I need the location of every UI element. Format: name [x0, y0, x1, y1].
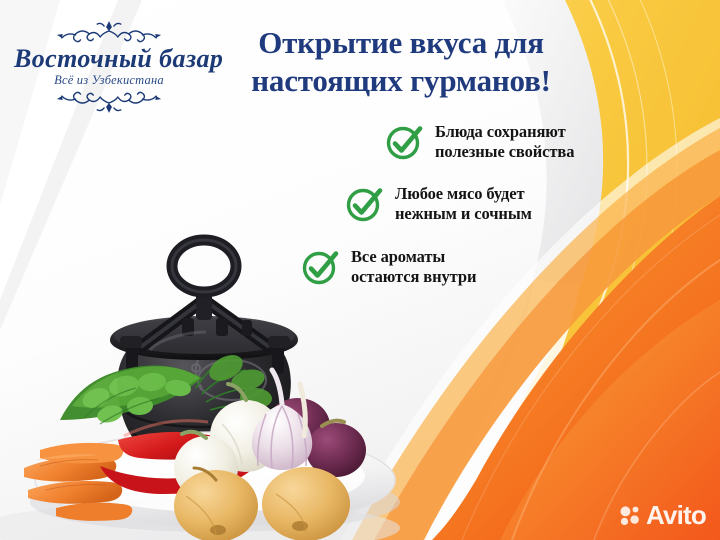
brand-logo: Восточный базар Всё из Узбекистана: [14, 18, 204, 116]
promo-banner: Восточный базар Всё из Узбекистана Откры…: [0, 0, 720, 540]
flourish-ornament-top-icon: [50, 18, 168, 44]
avito-dots-icon: [619, 504, 641, 526]
avito-watermark: Avito: [619, 502, 706, 528]
logo-title: Восточный базар: [14, 45, 204, 72]
product-photo: [0, 150, 430, 540]
avito-wordmark: Avito: [646, 502, 706, 528]
headline: Открытие вкуса для настоящих гурманов!: [206, 24, 596, 100]
flourish-ornament-bottom-icon: [50, 90, 168, 116]
list-item-label: Блюда сохраняют полезные свойства: [435, 122, 574, 162]
logo-subtitle: Всё из Узбекистана: [14, 73, 204, 88]
